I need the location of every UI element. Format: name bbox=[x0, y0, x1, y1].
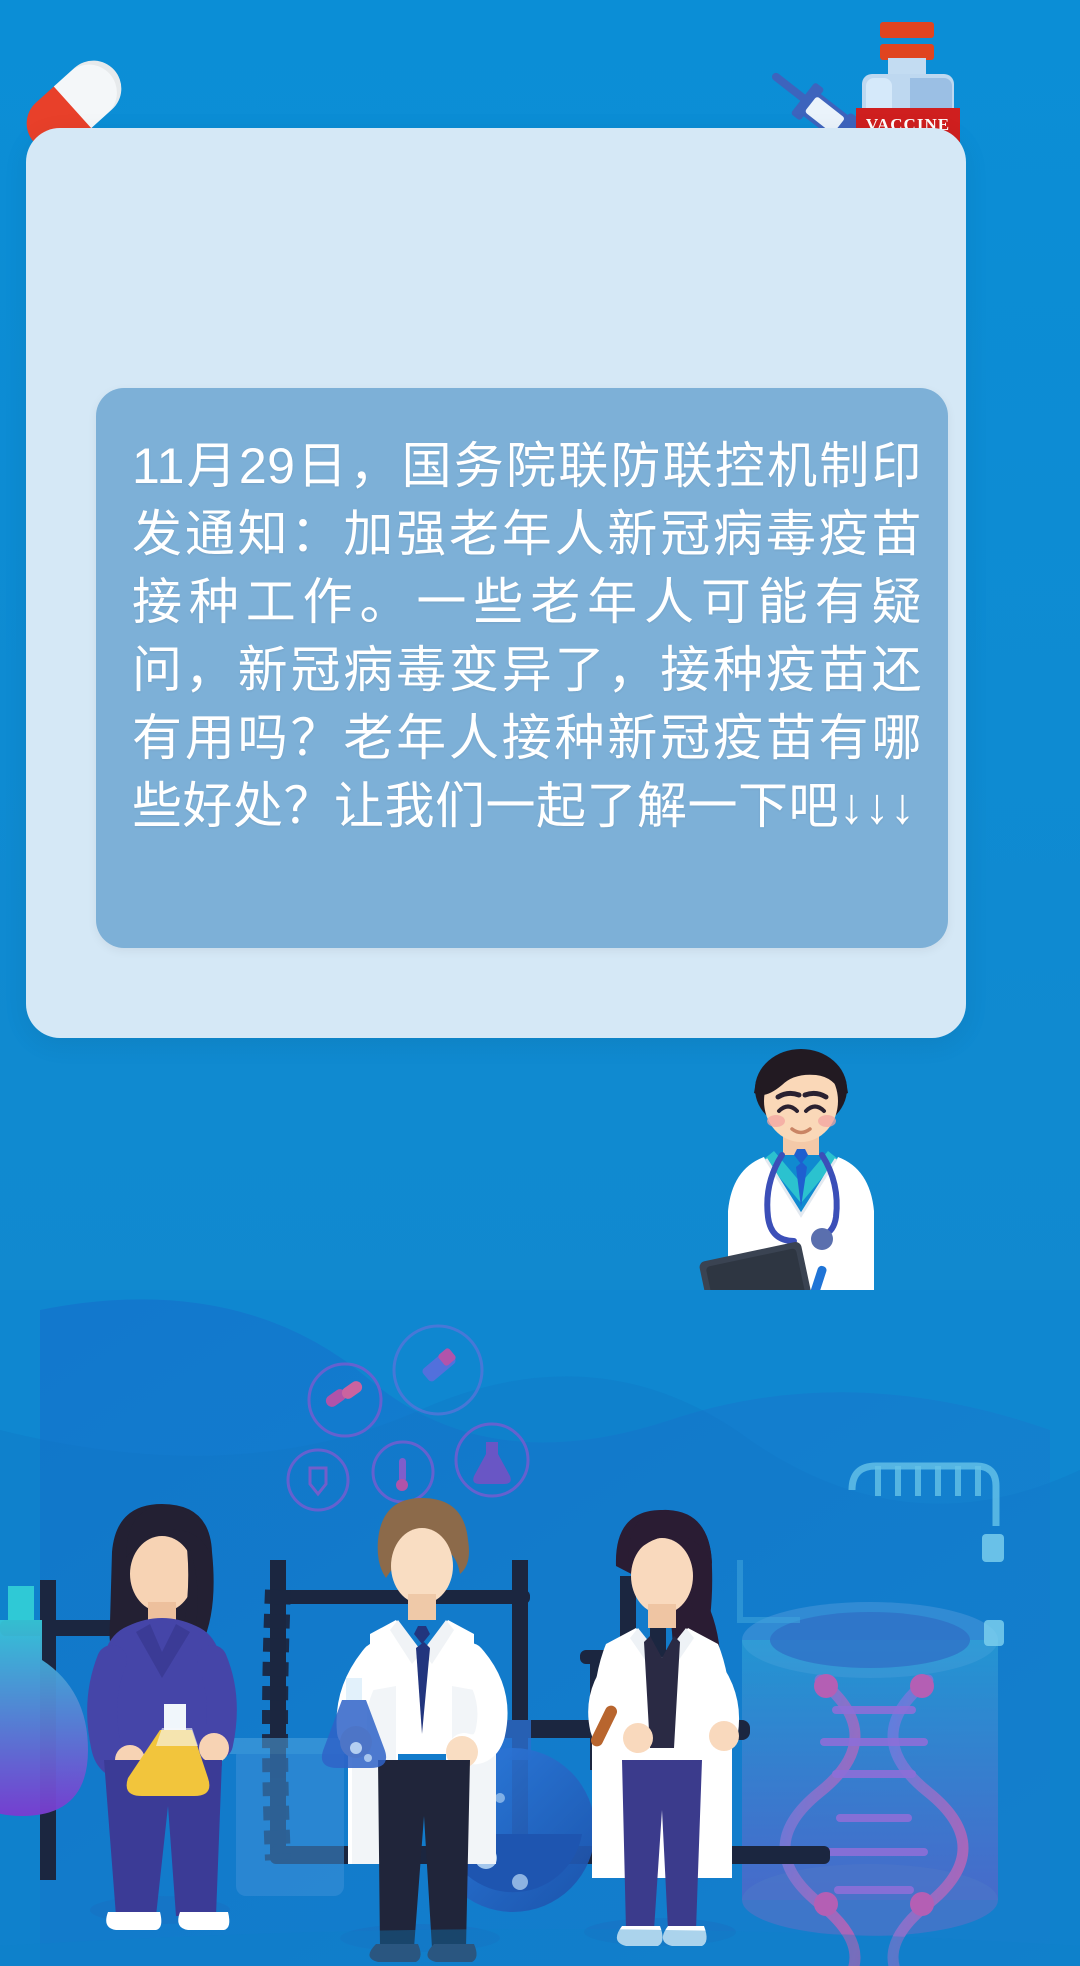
lab-scene-container bbox=[0, 1290, 1080, 1966]
notice-panel: 11月29日，国务院联防联控机制印发通知：加强老年人新冠病毒疫苗接种工作。一些老… bbox=[96, 388, 948, 948]
laboratory-illustration bbox=[0, 1290, 1080, 1966]
content-card: 11月29日，国务院联防联控机制印发通知：加强老年人新冠病毒疫苗接种工作。一些老… bbox=[26, 128, 966, 1038]
poster-root: VACCINE 11月29日，国务院联防联控机制印发通知：加强老年人新冠病毒疫苗… bbox=[0, 0, 1080, 1966]
vial-cap-top bbox=[880, 22, 934, 38]
notice-body-text: 11月29日，国务院联防联控机制印发通知：加强老年人新冠病毒疫苗接种工作。一些老… bbox=[132, 432, 922, 840]
